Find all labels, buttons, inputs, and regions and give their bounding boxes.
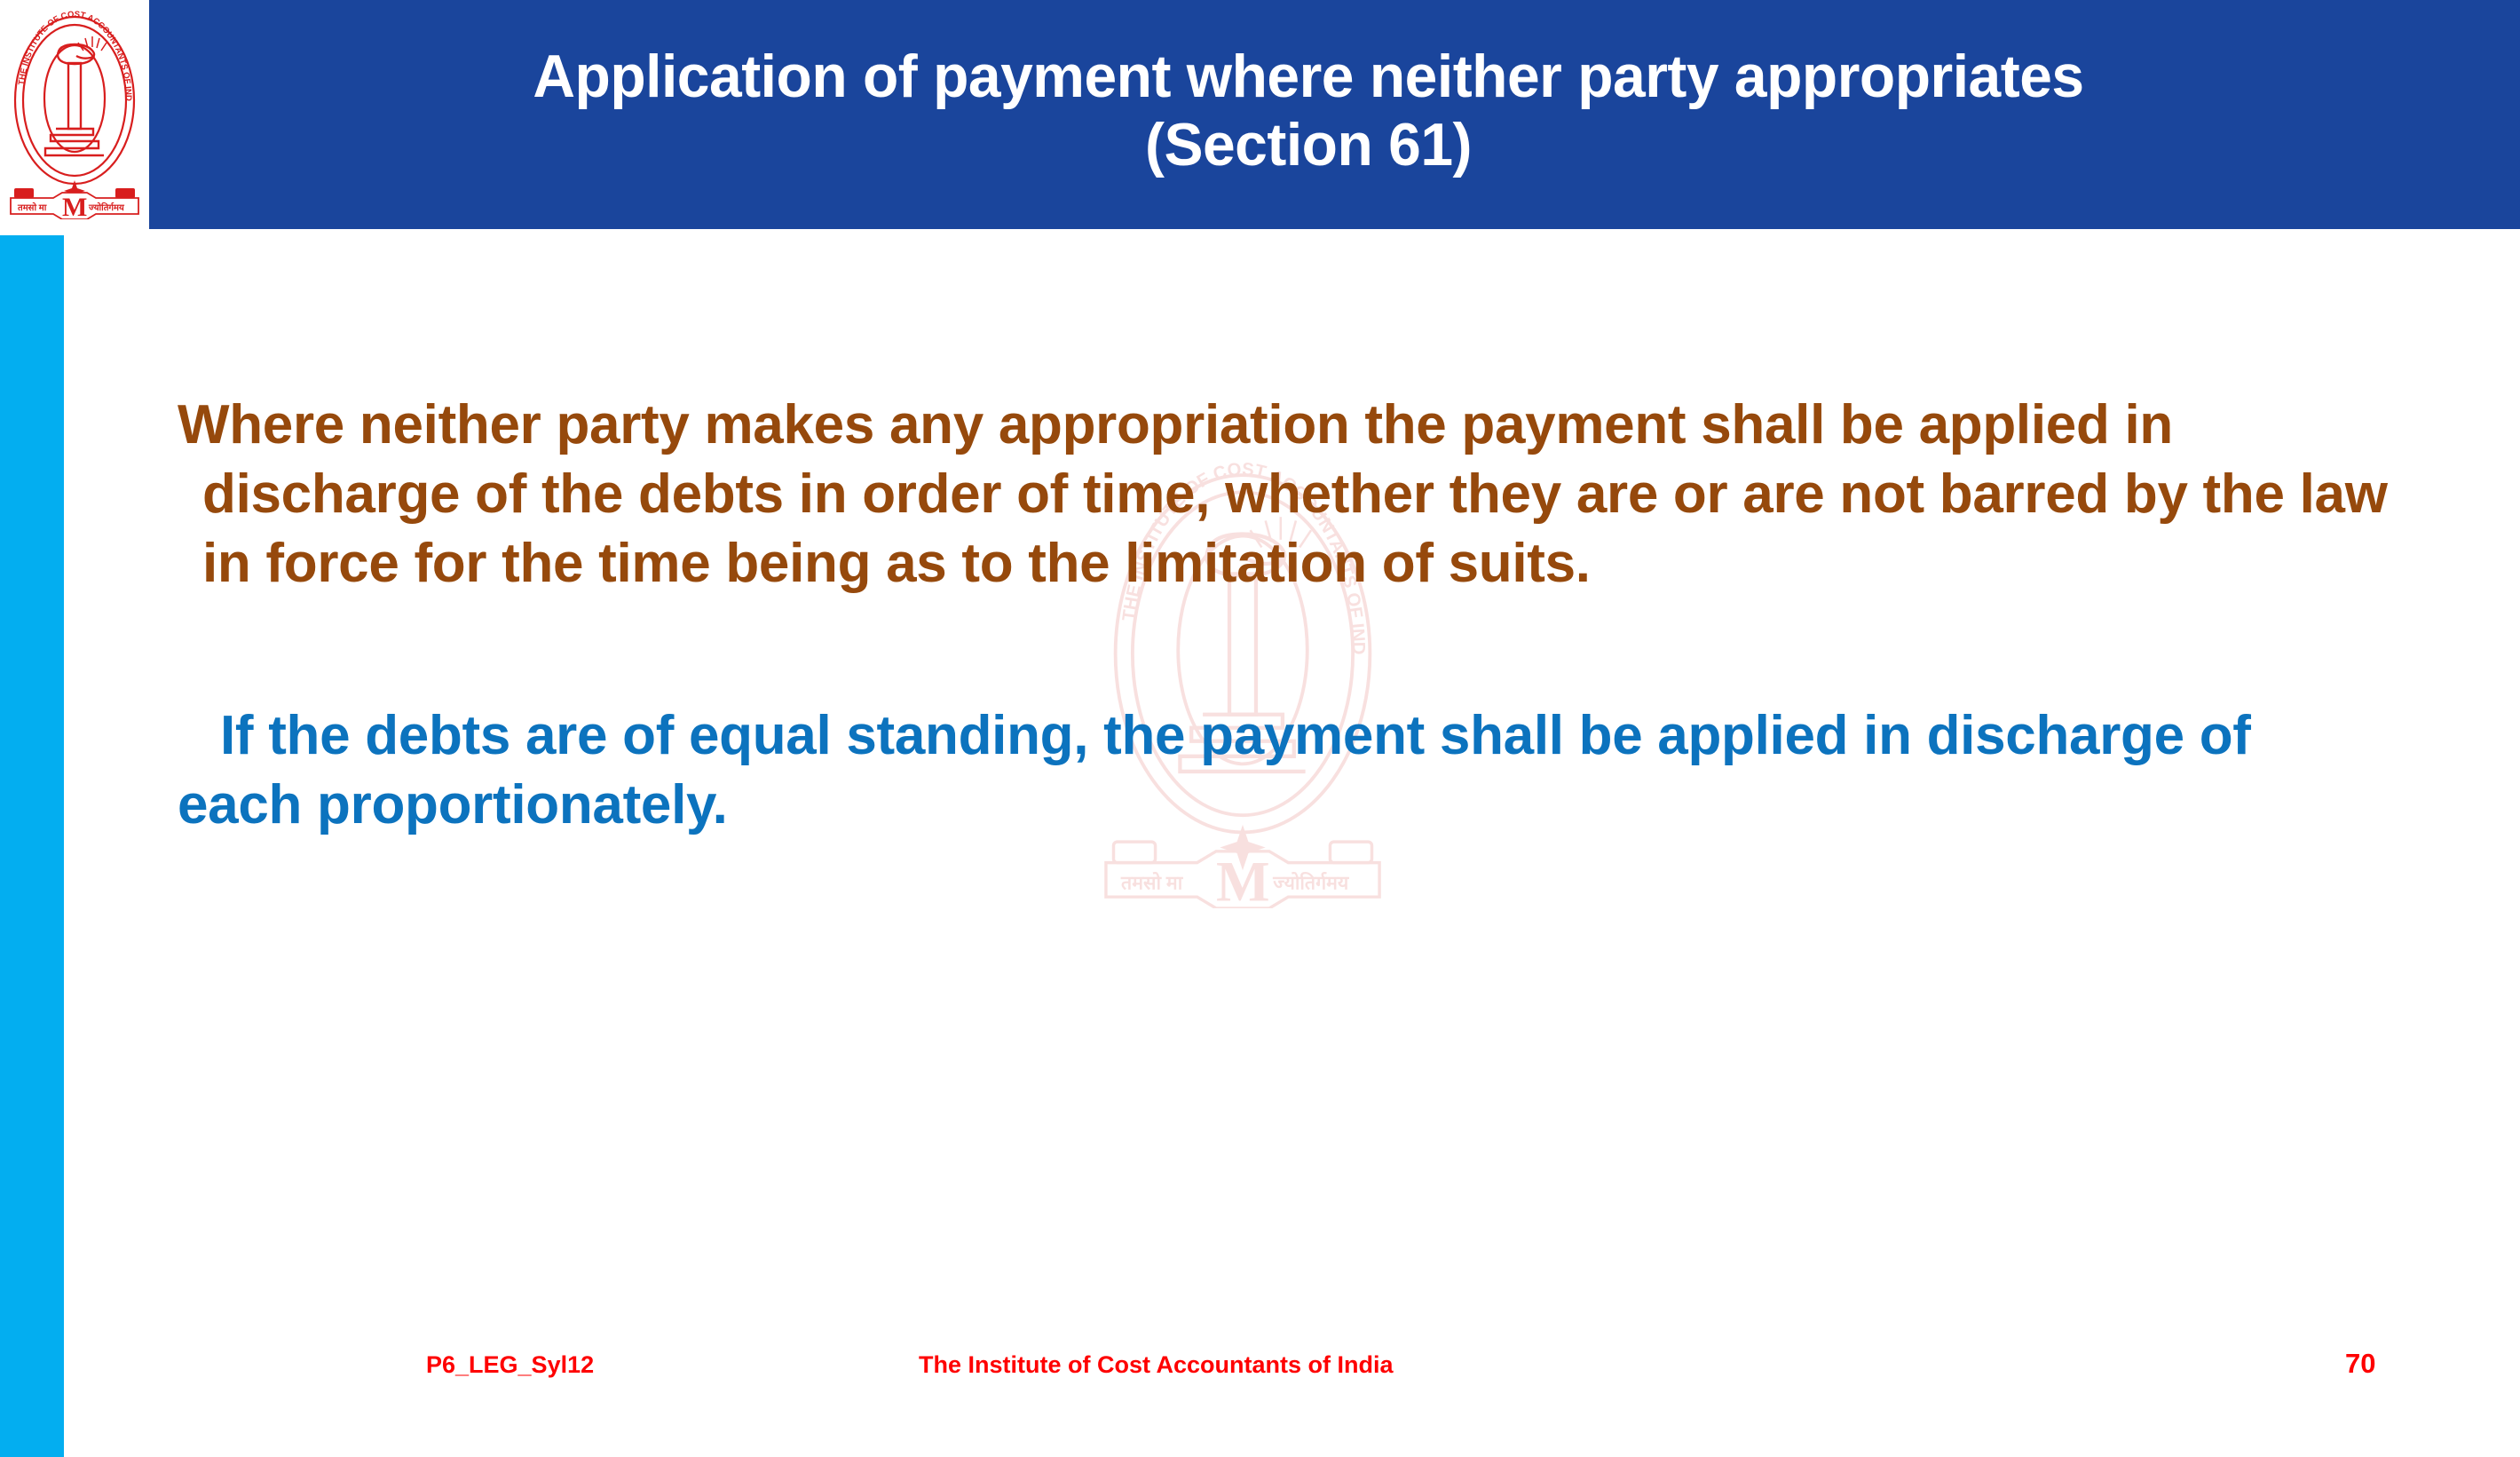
footer-institute-name: The Institute of Cost Accountants of Ind… (919, 1351, 1394, 1379)
svg-text:ज्योतिर्गमय: ज्योतिर्गमय (1272, 872, 1350, 894)
svg-text:M: M (62, 193, 87, 219)
svg-text:तमसो मा: तमसो मा (1120, 872, 1184, 894)
svg-text:THE INSTITUTE OF COST ACCOUNTA: THE INSTITUTE OF COST ACCOUNTANTS OF IND… (7, 10, 133, 101)
slide-header-bar: Application of payment where neither par… (149, 0, 2520, 229)
paragraph-spacer (178, 598, 2450, 701)
blue-paragraph: If the debts are of equal standing, the … (178, 701, 2379, 840)
page-title: Application of payment where neither par… (490, 43, 2126, 179)
slide-canvas: Application of payment where neither par… (0, 0, 2520, 1457)
footer-page-number: 70 (2345, 1348, 2375, 1380)
icai-emblem-icon: THE INSTITUTE OF COST ACCOUNTANTS OF IND… (7, 10, 142, 219)
svg-text:तमसो मा: तमसो मा (17, 202, 47, 213)
slide-footer: P6_LEG_Syl12 The Institute of Cost Accou… (0, 1351, 2520, 1405)
footer-paper-code: P6_LEG_Syl12 (426, 1351, 594, 1379)
svg-text:M: M (1216, 850, 1270, 908)
institute-logo: THE INSTITUTE OF COST ACCOUNTANTS OF IND… (0, 0, 149, 229)
slide-body: Where neither party makes any appropriat… (178, 391, 2450, 840)
svg-text:ज्योतिर्गमय: ज्योतिर्गमय (88, 202, 125, 213)
left-accent-strip (0, 235, 64, 1457)
brown-paragraph: Where neither party makes any appropriat… (178, 391, 2404, 598)
